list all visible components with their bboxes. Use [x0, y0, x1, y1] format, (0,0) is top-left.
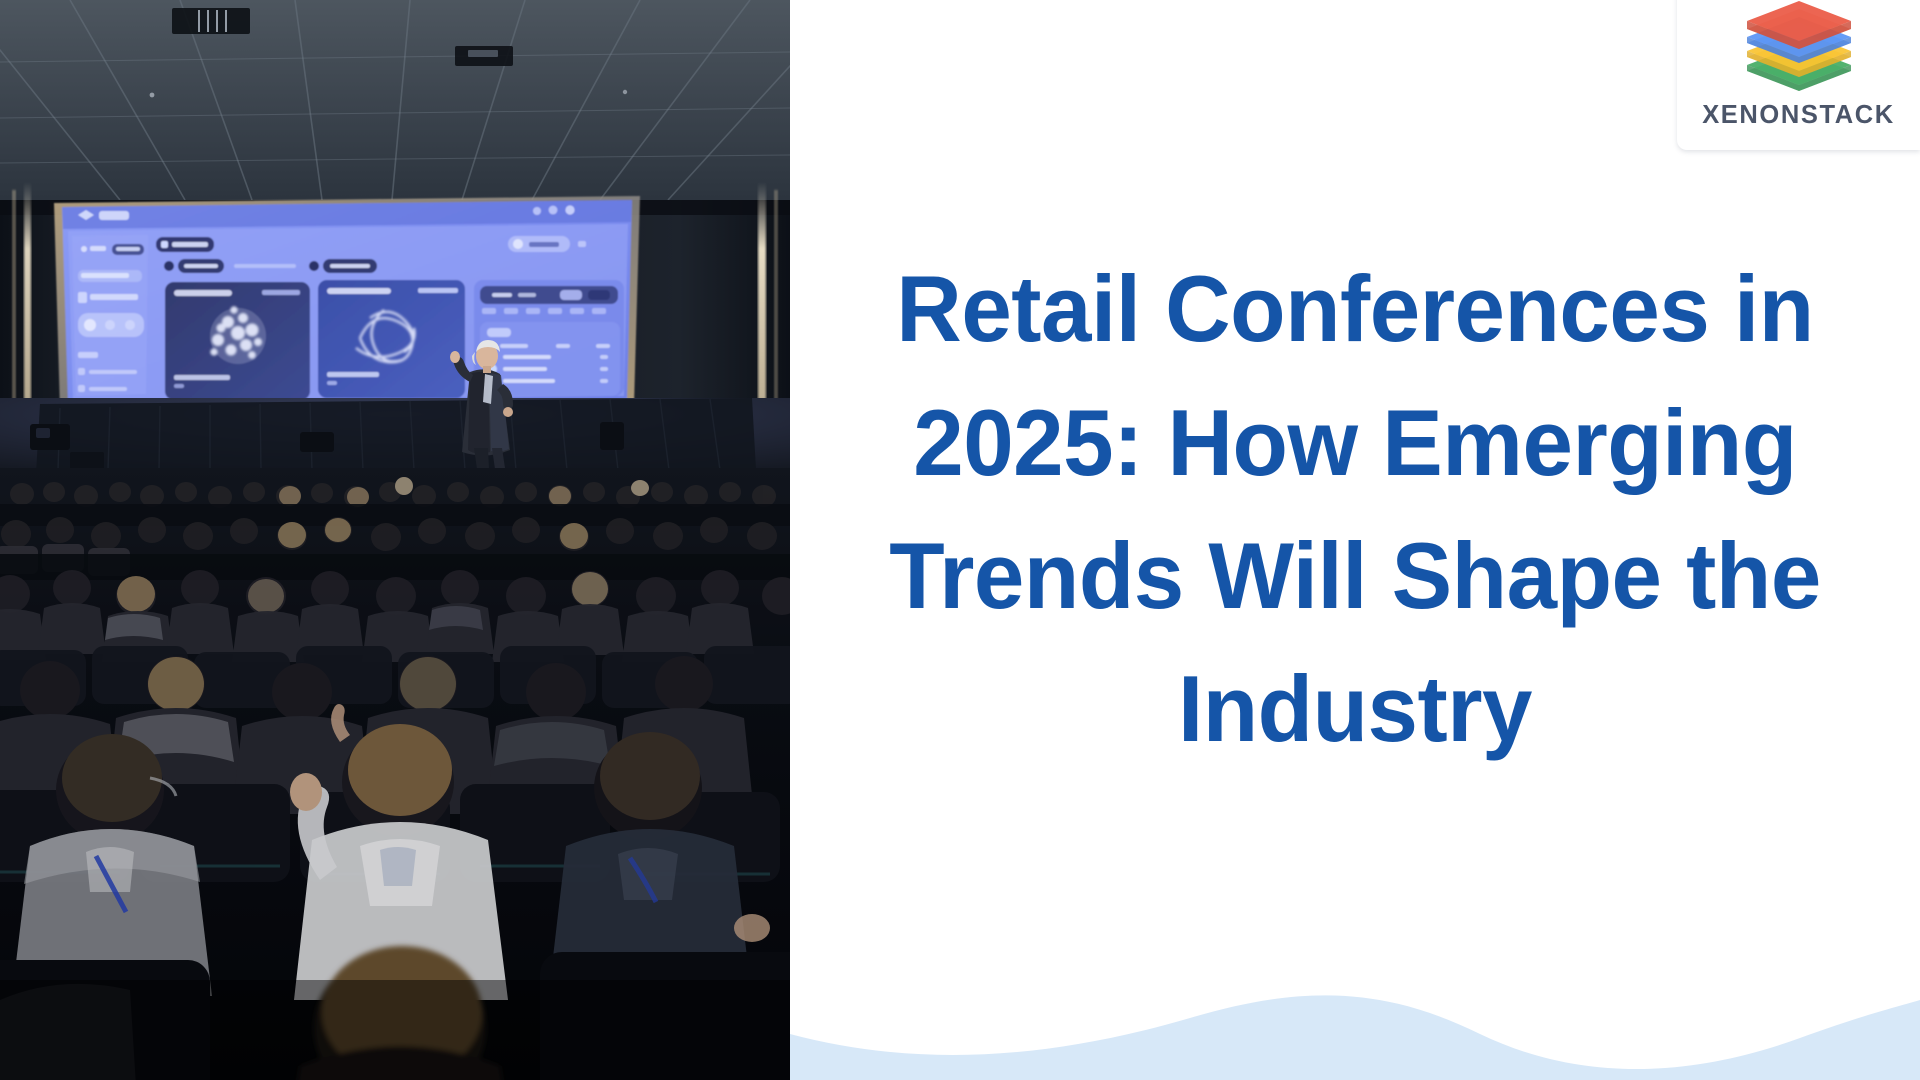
headline-block: Retail Conferences in 2025: How Emerging… [790, 0, 1920, 1080]
brand-wordmark: XENONSTACK [1702, 101, 1895, 130]
brand-logo-card[interactable]: XENONSTACK [1677, 0, 1920, 150]
conference-hall-illustration [0, 0, 790, 1080]
title-panel: Retail Conferences in 2025: How Emerging… [790, 0, 1920, 1080]
conference-hall-photo [0, 0, 790, 1080]
xenonstack-stack-icon [1741, 0, 1857, 97]
poster-canvas: Retail Conferences in 2025: How Emerging… [0, 0, 1920, 1080]
page-title: Retail Conferences in 2025: How Emerging… [854, 242, 1856, 776]
